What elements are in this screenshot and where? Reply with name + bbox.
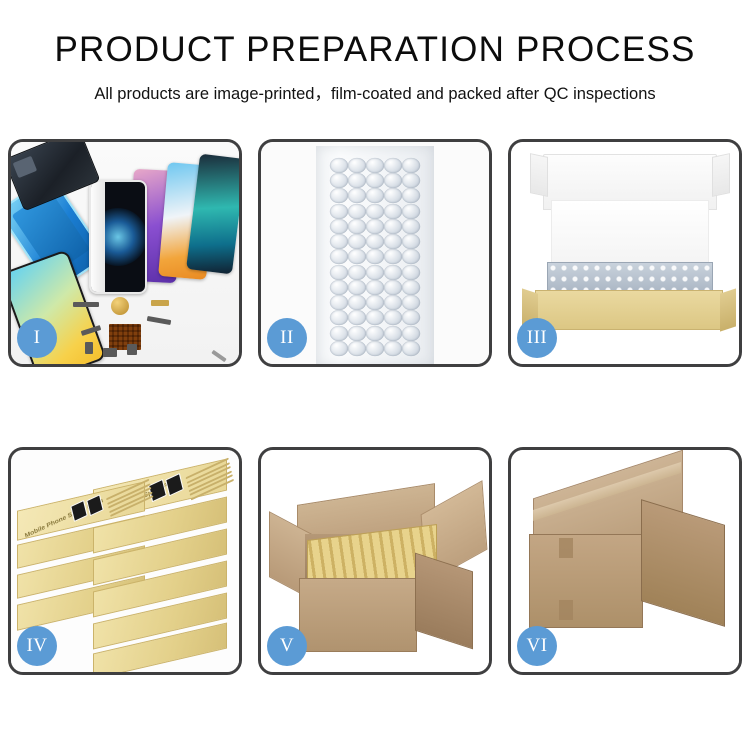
bubble-cell: [366, 219, 384, 235]
bubble-cell: [402, 219, 420, 235]
bubble-cell: [330, 158, 348, 174]
page-title: PRODUCT PREPARATION PROCESS: [0, 32, 750, 67]
bubble-cell: [402, 310, 420, 326]
small-part-icon: [151, 300, 169, 306]
bubble-cell: [366, 188, 384, 204]
bubble-cell: [384, 264, 402, 280]
bubble-cell: [330, 341, 348, 357]
bubble-cell: [348, 249, 366, 265]
bubble-cell: [348, 295, 366, 311]
carton-side-face: [415, 553, 473, 650]
carton-handle-cut-icon: [559, 600, 573, 620]
carton-front-face: [529, 534, 643, 628]
bubble-cell: [366, 158, 384, 174]
bubble-cell: [384, 295, 402, 311]
gold-component-icon: [111, 297, 129, 315]
bubble-cell: [402, 234, 420, 250]
bubble-cell: [402, 158, 420, 174]
bubble-cell: [348, 325, 366, 341]
bubble-cell: [348, 310, 366, 326]
step-badge-2: II: [267, 318, 307, 358]
bubble-grid: [330, 158, 420, 356]
bubble-cell: [366, 325, 384, 341]
ribbon-cable-icon: [147, 316, 172, 325]
bubble-cell: [402, 280, 420, 296]
step-badge-5: V: [267, 626, 307, 666]
bubble-cell: [348, 188, 366, 204]
foam-padding-icon: [551, 200, 709, 266]
bubble-cell: [366, 173, 384, 189]
step-badge-3: III: [517, 318, 557, 358]
bubble-cell: [402, 249, 420, 265]
camera-part-icon: [127, 344, 137, 355]
bubble-cell: [402, 325, 420, 341]
bubble-cell: [384, 325, 402, 341]
bubble-cell: [384, 310, 402, 326]
bubble-cell: [402, 295, 420, 311]
bubble-cell: [348, 173, 366, 189]
bubble-cell: [366, 341, 384, 357]
bubble-cell: [384, 173, 402, 189]
bubble-cell: [384, 188, 402, 204]
bubble-cell: [366, 310, 384, 326]
bubble-cell: [384, 158, 402, 174]
bubble-cell: [330, 204, 348, 220]
flex-cable-icon: [73, 302, 99, 307]
page-subtitle: All products are image-printed，film-coat…: [0, 80, 750, 104]
bubble-cell: [330, 295, 348, 311]
bubble-cell: [384, 341, 402, 357]
bubble-cell: [384, 249, 402, 265]
step-panel-5[interactable]: V: [258, 447, 492, 675]
bubble-cell: [402, 173, 420, 189]
speaker-part-icon: [103, 348, 117, 357]
step-panel-4[interactable]: Mobile Phone Spare Parts Mobile Phone Sp…: [8, 447, 242, 675]
bubble-cell: [366, 249, 384, 265]
kraft-box-body-icon: [535, 290, 723, 330]
bubble-cell: [330, 280, 348, 296]
step-panel-2[interactable]: II: [258, 139, 492, 367]
carton-front-face: [299, 578, 417, 652]
bubble-cell: [402, 204, 420, 220]
bubble-cell: [348, 264, 366, 280]
step-badge-4: IV: [17, 626, 57, 666]
bubble-cell: [366, 295, 384, 311]
bubble-cell: [366, 280, 384, 296]
bubble-cell: [348, 219, 366, 235]
steps-grid: I II III: [8, 139, 742, 675]
bubble-cell: [330, 325, 348, 341]
header: PRODUCT PREPARATION PROCESS All products…: [0, 0, 750, 104]
bubble-cell: [330, 310, 348, 326]
bubble-cell: [330, 173, 348, 189]
bubble-cell: [348, 158, 366, 174]
bubble-cell: [348, 204, 366, 220]
step-panel-3[interactable]: III: [508, 139, 742, 367]
bubble-cell: [402, 264, 420, 280]
bubble-cell: [402, 341, 420, 357]
bubble-cell: [402, 188, 420, 204]
bubble-cell: [384, 280, 402, 296]
carton-handle-cut-icon: [559, 538, 573, 558]
screw-icon: [211, 350, 226, 362]
bubble-cell: [384, 204, 402, 220]
bubble-cell: [348, 341, 366, 357]
step-badge-6: VI: [517, 626, 557, 666]
bubble-cell: [330, 264, 348, 280]
product-preparation-infographic: PRODUCT PREPARATION PROCESS All products…: [0, 0, 750, 750]
bubble-cell: [366, 204, 384, 220]
bubble-cell: [330, 249, 348, 265]
bubble-cell: [384, 234, 402, 250]
carton-side-face: [641, 499, 725, 627]
step-panel-6[interactable]: VI: [508, 447, 742, 675]
button-part-icon: [85, 342, 93, 354]
phone-glass-icon: [89, 180, 147, 294]
bubble-cell: [348, 234, 366, 250]
bubble-cell: [330, 234, 348, 250]
bubble-cell: [348, 280, 366, 296]
step-panel-1[interactable]: I: [8, 139, 242, 367]
bubble-wrap-pouch: [316, 146, 434, 366]
bubble-cell: [366, 264, 384, 280]
step-badge-1: I: [17, 318, 57, 358]
bubble-cell: [330, 219, 348, 235]
bubble-cell: [366, 234, 384, 250]
bubble-cell: [330, 188, 348, 204]
bubble-cell: [384, 219, 402, 235]
